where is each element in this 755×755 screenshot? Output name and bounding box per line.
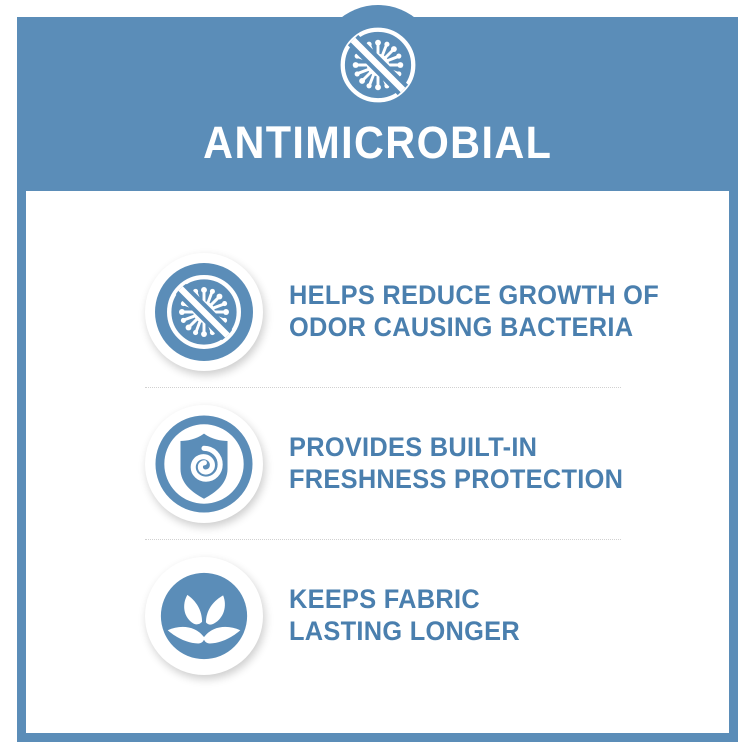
no-germ-circle-icon xyxy=(155,263,253,361)
feature-line-1: HELPS REDUCE GROWTH OF xyxy=(289,280,659,312)
header-content: ANTIMICROBIAL xyxy=(17,5,738,191)
feature-line-2: FRESHNESS PROTECTION xyxy=(289,464,623,496)
feature-line-2: LASTING LONGER xyxy=(289,616,520,648)
page-title: ANTIMICROBIAL xyxy=(203,120,552,165)
divider-2 xyxy=(145,539,621,541)
no-germ-circle-icon-badge xyxy=(145,253,263,371)
no-germ-icon xyxy=(335,22,421,108)
shield-swirl-icon xyxy=(155,415,253,513)
divider-1 xyxy=(145,387,621,389)
feature-line-1: PROVIDES BUILT-IN xyxy=(289,432,623,464)
feature-row-freshness: PROVIDES BUILT-IN FRESHNESS PROTECTION xyxy=(26,389,729,539)
feature-text-fabric: KEEPS FABRIC LASTING LONGER xyxy=(289,584,520,647)
antimicrobial-infographic: ANTIMICROBIAL xyxy=(0,0,755,755)
feature-text-freshness: PROVIDES BUILT-IN FRESHNESS PROTECTION xyxy=(289,432,623,495)
feature-text-bacteria: HELPS REDUCE GROWTH OF ODOR CAUSING BACT… xyxy=(289,280,659,343)
feature-line-2: ODOR CAUSING BACTERIA xyxy=(289,312,659,344)
feature-line-1: KEEPS FABRIC xyxy=(289,584,520,616)
feature-row-fabric: KEEPS FABRIC LASTING LONGER xyxy=(26,541,729,691)
shield-swirl-icon-badge xyxy=(145,405,263,523)
sprout-fabric-icon xyxy=(155,567,253,665)
sprout-fabric-icon-badge xyxy=(145,557,263,675)
feature-row-bacteria: HELPS REDUCE GROWTH OF ODOR CAUSING BACT… xyxy=(26,237,729,387)
feature-list: HELPS REDUCE GROWTH OF ODOR CAUSING BACT… xyxy=(26,191,729,733)
